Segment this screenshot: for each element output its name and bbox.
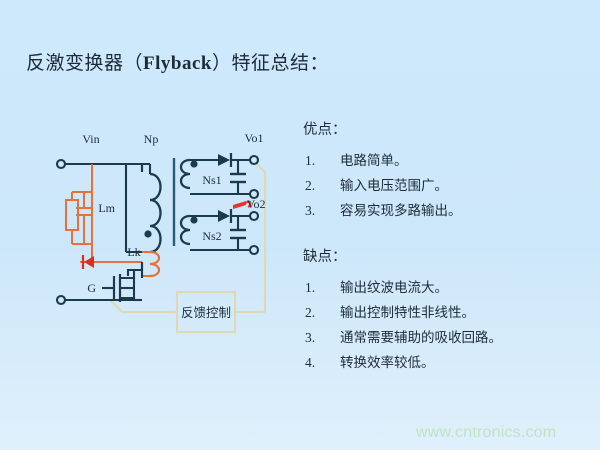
page-title-suffix: ）特征总结： — [212, 53, 329, 74]
primary-winding-np — [126, 164, 161, 252]
list-item-text: 电路简单。 — [340, 153, 408, 168]
list-item-text: 容易实现多路输出。 — [340, 203, 462, 218]
primary-wiring — [64, 164, 142, 300]
vin-negative-terminal — [57, 296, 65, 304]
ns2-label: Ns2 — [202, 229, 221, 243]
vin-positive-terminal — [57, 160, 65, 168]
ns2-rectifier-diode — [218, 210, 230, 222]
page-title: 反激变换器（Flyback）特征总结： — [26, 48, 329, 75]
list-item: 4. 转换效率较低。 — [303, 350, 583, 375]
page-title-prefix: 反激变换器（ — [26, 53, 143, 74]
np-polarity-dot — [144, 230, 151, 237]
site-watermark: www.cntronics.com — [416, 424, 556, 442]
list-item: 2. 输出控制特性非线性。 — [303, 300, 583, 325]
ns2-polarity-dot — [190, 216, 197, 223]
vo2-negative-terminal — [250, 246, 258, 254]
cons-list: 1. 输出纹波电流大。 2. 输出控制特性非线性。 3. 通常需要辅助的吸收回路… — [303, 275, 583, 375]
gate-label: G — [87, 281, 96, 295]
ns1-rectifier-diode — [218, 154, 230, 166]
list-item: 2. 输入电压范围广。 — [303, 173, 583, 198]
list-item-text: 转换效率较低。 — [340, 355, 435, 370]
list-item: 1. 输出纹波电流大。 — [303, 275, 583, 300]
feedback-control-label: 反馈控制 — [181, 306, 231, 320]
list-item-number: 1. — [305, 275, 315, 300]
list-item: 3. 通常需要辅助的吸收回路。 — [303, 325, 583, 350]
list-item-number: 3. — [305, 198, 315, 223]
list-item-number: 2. — [305, 300, 315, 325]
vo2-positive-terminal — [250, 212, 258, 220]
vin-label: Vin — [82, 132, 99, 146]
list-item-text: 输出控制特性非线性。 — [340, 305, 475, 320]
list-item-number: 2. — [305, 173, 315, 198]
ns1-polarity-dot — [190, 160, 197, 167]
vo1-label: Vo1 — [244, 131, 263, 145]
list-item-text: 输出纹波电流大。 — [340, 280, 448, 295]
leakage-inductance-lk — [142, 252, 159, 276]
vo1-positive-terminal — [250, 156, 258, 164]
rc-snubber-network — [66, 164, 92, 254]
np-label: Np — [144, 132, 159, 146]
list-item-text: 输入电压范围广。 — [340, 178, 448, 193]
pros-heading: 优点： — [303, 118, 583, 139]
ns2-winding — [181, 216, 190, 244]
list-item: 1. 电路简单。 — [303, 148, 583, 173]
features-text-column: 优点： 1. 电路简单。 2. 输入电压范围广。 3. 容易实现多路输出。 缺点… — [303, 118, 583, 397]
slide-canvas: 反激变换器（Flyback）特征总结： 反馈控制 — [0, 0, 600, 450]
list-item-number: 4. — [305, 350, 315, 375]
list-item-number: 1. — [305, 148, 315, 173]
cons-heading: 缺点： — [303, 245, 583, 266]
flyback-circuit-diagram: 反馈控制 — [22, 104, 300, 340]
list-item-number: 3. — [305, 325, 315, 350]
pros-list: 1. 电路简单。 2. 输入电压范围广。 3. 容易实现多路输出。 — [303, 148, 583, 223]
lm-label: Lm — [98, 201, 115, 215]
list-item: 3. 容易实现多路输出。 — [303, 198, 583, 223]
list-item-text: 通常需要辅助的吸收回路。 — [340, 330, 502, 345]
vo2-label: Vo2 — [246, 197, 265, 211]
ns1-label: Ns1 — [202, 173, 221, 187]
mosfet-switch — [102, 264, 142, 302]
page-title-english-term: Flyback — [143, 53, 212, 74]
lk-label: Lk — [127, 245, 140, 259]
ns1-winding — [181, 160, 190, 188]
